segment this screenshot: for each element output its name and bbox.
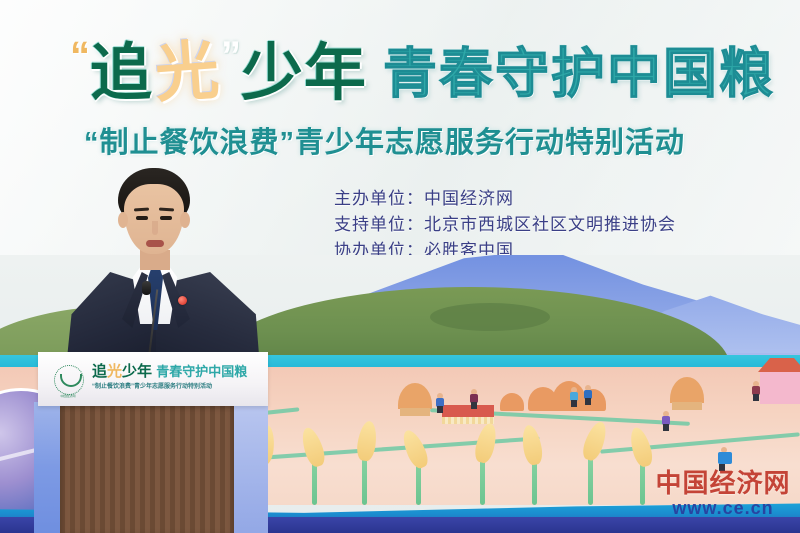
mural-person	[470, 389, 478, 409]
mural-table	[442, 405, 494, 417]
podium-front-panel	[60, 402, 234, 533]
person-legs	[571, 400, 577, 407]
mural-person	[570, 387, 578, 407]
podium-emblem-label: 中国经济网	[46, 394, 90, 398]
watermark: 中国经济网 www.ce.cn	[648, 470, 798, 518]
mural-house	[760, 370, 800, 404]
title-part-1: 追	[90, 43, 153, 105]
person-legs	[663, 424, 669, 431]
mural-wheat	[468, 419, 498, 505]
mural-hill-shadow	[430, 303, 550, 331]
podium-title: 追光少年 青春守护中国粮	[92, 364, 247, 379]
organizer-list: 主办单位：中国经济网 支持单位：北京市西城区社区文明推进协会 协办单位：必胜客中…	[334, 186, 676, 264]
eye-left	[136, 216, 148, 220]
mural-person	[752, 381, 760, 401]
podium-title-part-2: 少年	[122, 363, 152, 380]
mural-wheat	[404, 419, 434, 505]
mural-person	[584, 385, 592, 405]
mural-person	[662, 411, 670, 431]
person-legs	[471, 402, 477, 409]
person-legs	[753, 394, 759, 401]
title-part-2: 少年	[241, 43, 367, 105]
podium-side-right	[234, 402, 268, 533]
person-legs	[585, 398, 591, 405]
title-highlight-char: 光	[153, 38, 221, 106]
watermark-brand: 中国经济网	[648, 470, 798, 498]
podium-side-left	[34, 402, 60, 533]
lapel-pin-icon	[178, 296, 187, 305]
eye-right	[160, 216, 172, 220]
podium-title-highlight: 光	[107, 363, 122, 380]
watermark-url: www.ce.cn	[648, 498, 798, 518]
speaker-person	[60, 168, 270, 368]
mural-wheat	[520, 419, 550, 505]
mural-wheat	[576, 419, 606, 505]
mural-wheat	[350, 419, 380, 505]
organizer-support: 支持单位：北京市西城区社区文明推进协会	[334, 212, 676, 238]
mouth	[146, 240, 164, 247]
nose	[152, 221, 158, 235]
quote-open-mark: “	[70, 36, 90, 76]
ce-emblem-icon	[54, 365, 84, 395]
microphone-icon	[142, 281, 151, 295]
organizer-host: 主办单位：中国经济网	[334, 186, 676, 212]
ear-left	[118, 212, 128, 228]
mural-haystack	[500, 393, 524, 411]
podium-title-part-1: 追	[92, 363, 107, 380]
podium: 中国经济网 追光少年 青春守护中国粮 “制止餐饮浪费”青少年志愿服务行动特别活动	[38, 352, 268, 533]
mural-person	[436, 393, 444, 413]
ear-right	[180, 212, 190, 228]
quote-close-mark: ”	[221, 36, 241, 76]
podium-title-right: 青春守护中国粮	[156, 364, 247, 379]
title-right-phrase: 青春守护中国粮	[383, 47, 775, 101]
podium-subtitle: “制止餐饮浪费”青少年志愿服务行动特别活动	[92, 383, 212, 391]
person-legs	[437, 406, 443, 413]
person-body	[718, 452, 732, 464]
screenshot-root: “ 追 光 ” 少年 青春守护中国粮 “制止餐饮浪费”青少年志愿服务行动特别活动…	[0, 0, 800, 533]
podium-sign-board: 中国经济网 追光少年 青春守护中国粮 “制止餐饮浪费”青少年志愿服务行动特别活动	[38, 352, 268, 406]
banner-title: “ 追 光 ” 少年 青春守护中国粮	[70, 34, 785, 114]
mural-wheat	[300, 419, 330, 505]
banner-subtitle: “制止餐饮浪费”青少年志愿服务行动特别活动	[84, 126, 784, 160]
